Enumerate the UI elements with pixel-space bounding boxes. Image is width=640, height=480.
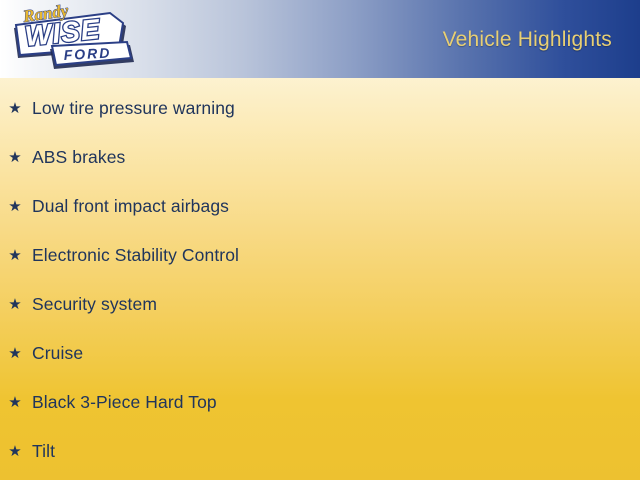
page-title: Vehicle Highlights — [443, 28, 612, 52]
vehicle-highlights-slide: Randy WISE FORD Vehicle Highlights ★ Low… — [0, 0, 640, 480]
star-bullet-icon: ★ — [8, 101, 22, 115]
list-item: ★ Cruise — [8, 340, 83, 366]
randy-wise-ford-logo: Randy WISE FORD — [8, 2, 140, 76]
list-item: ★ Low tire pressure warning — [8, 95, 235, 121]
list-item: ★ Security system — [8, 291, 157, 317]
list-item-label: ABS brakes — [32, 147, 125, 168]
list-item-label: Electronic Stability Control — [32, 245, 239, 266]
star-bullet-icon: ★ — [8, 395, 22, 409]
list-item: ★ Tilt — [8, 438, 55, 464]
star-bullet-icon: ★ — [8, 248, 22, 262]
svg-text:FORD: FORD — [63, 45, 111, 63]
list-item: ★ Electronic Stability Control — [8, 242, 239, 268]
star-bullet-icon: ★ — [8, 150, 22, 164]
star-bullet-icon: ★ — [8, 346, 22, 360]
star-bullet-icon: ★ — [8, 297, 22, 311]
list-item-label: Tilt — [32, 441, 55, 462]
list-item-label: Security system — [32, 294, 157, 315]
list-item: ★ ABS brakes — [8, 144, 125, 170]
star-bullet-icon: ★ — [8, 444, 22, 458]
list-item-label: Black 3-Piece Hard Top — [32, 392, 217, 413]
list-item-label: Dual front impact airbags — [32, 196, 229, 217]
list-item-label: Cruise — [32, 343, 83, 364]
slide-header: Randy WISE FORD Vehicle Highlights — [0, 0, 640, 78]
list-item: ★ Dual front impact airbags — [8, 193, 229, 219]
list-item: ★ Black 3-Piece Hard Top — [8, 389, 217, 415]
star-bullet-icon: ★ — [8, 199, 22, 213]
list-item-label: Low tire pressure warning — [32, 98, 235, 119]
vehicle-highlights-list: ★ Low tire pressure warning ★ ABS brakes… — [0, 78, 640, 480]
